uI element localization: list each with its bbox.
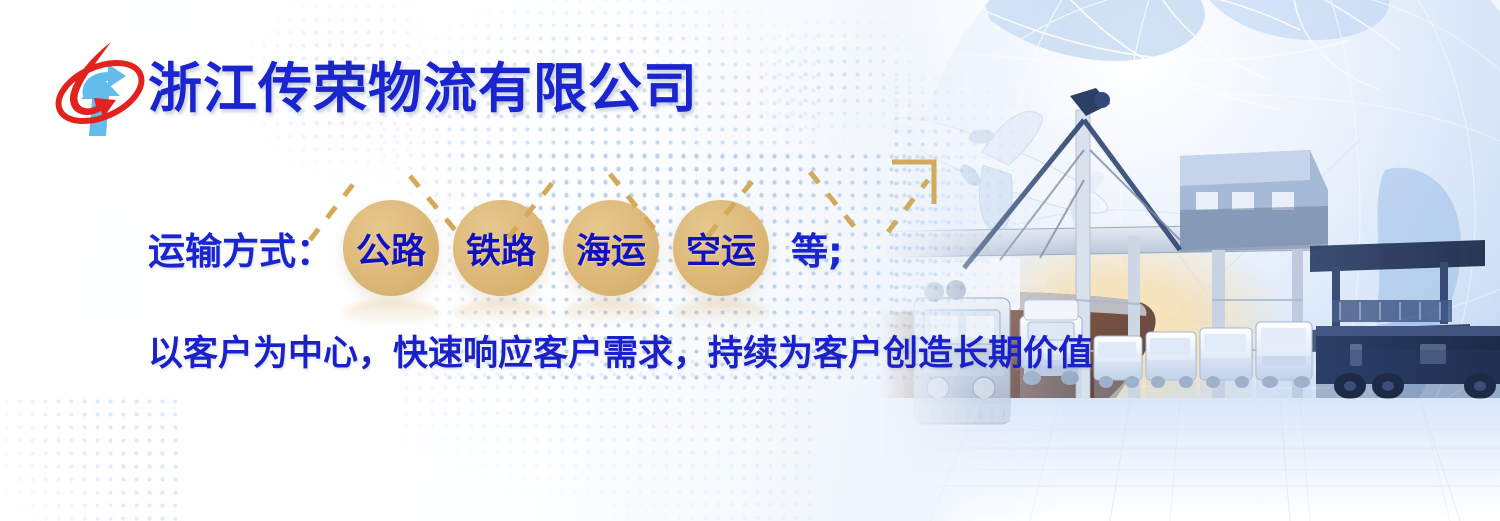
circle-reflection [563,300,659,326]
logistics-hero-banner: 浙江传荣物流有限公司 运输方式： 公路 铁路 海运 空运 等; [0,0,1500,521]
circle-reflection [673,300,769,326]
company-logo [48,36,154,144]
circle-reflection [453,300,549,326]
dashed-zigzag-path [300,140,940,290]
page-title: 浙江传荣物流有限公司 [148,44,698,123]
circle-reflection [343,300,439,326]
logistics-photo-montage [880,0,1500,521]
tagline: 以客户为中心，快速响应客户需求，持续为客户创造长期价值 [148,325,1093,376]
